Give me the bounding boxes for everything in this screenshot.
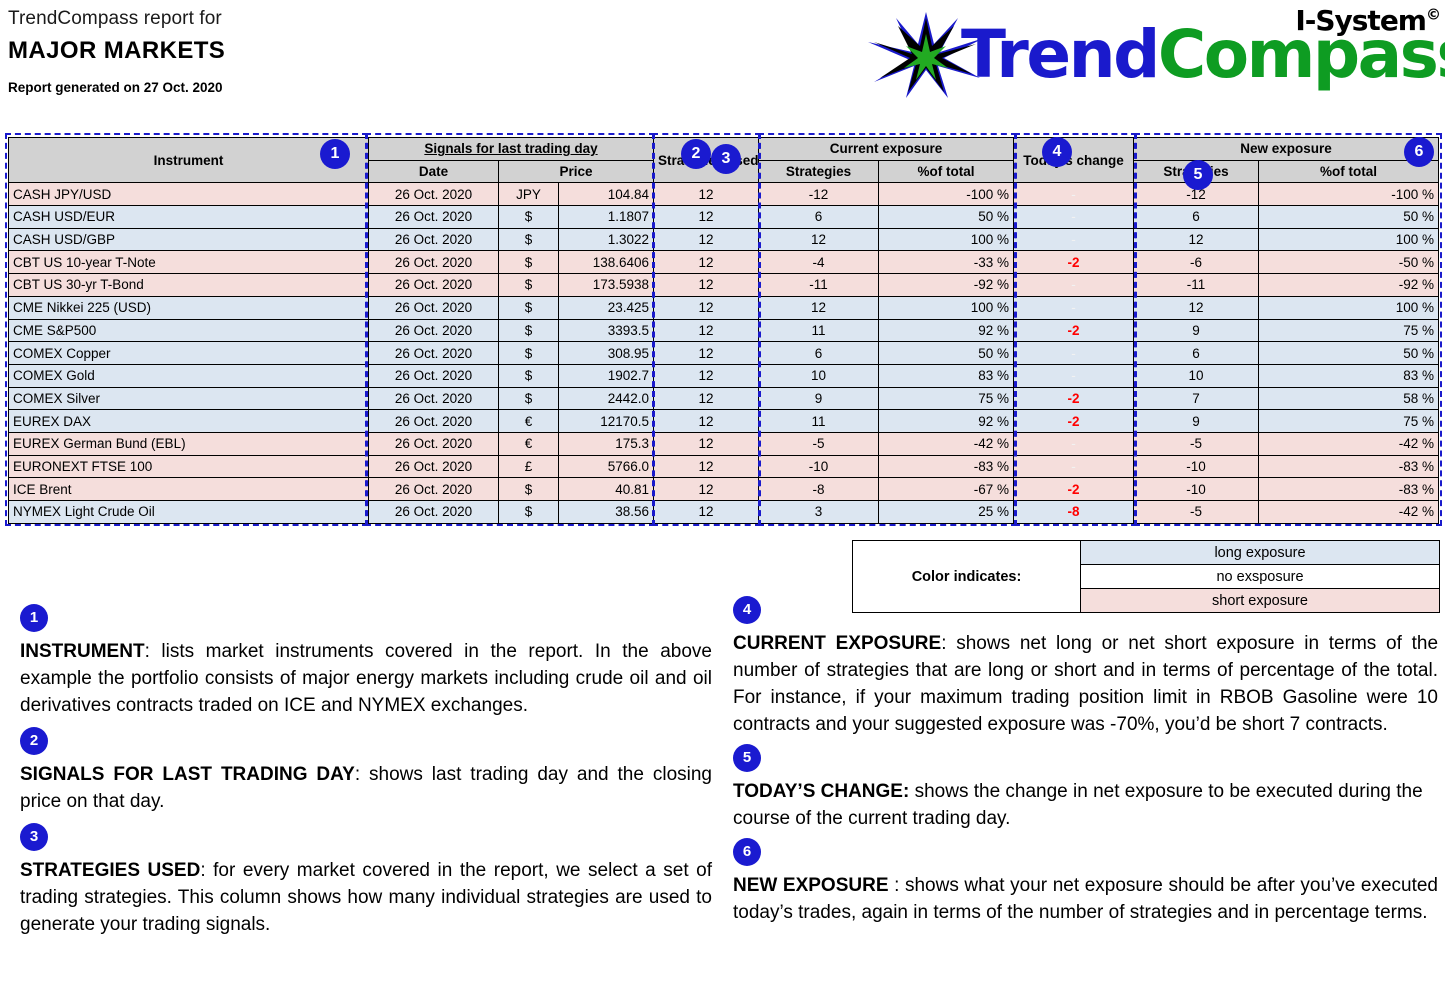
cell-current-strategies: -8 [759, 478, 879, 501]
table-row[interactable]: NYMEX Light Crude Oil26 Oct. 2020$38.561… [9, 501, 1439, 524]
note-5: 5 TODAY’S CHANGE: shows the change in ne… [733, 744, 1438, 832]
note-2: 2 SIGNALS FOR LAST TRADING DAY: shows la… [20, 727, 712, 815]
cell-strategies-used: 12 [654, 206, 759, 229]
cell-new-pct: -50 % [1259, 251, 1439, 274]
report-title: MAJOR MARKETS [8, 37, 225, 65]
cell-current-strategies: -5 [759, 432, 879, 455]
callout-badge-2: 2 [681, 139, 711, 169]
exposure-table: Instrument Signals for last trading day … [8, 137, 1439, 524]
callout-badge-1: 1 [320, 139, 350, 169]
notes-column-left: 1 INSTRUMENT: lists market instruments c… [20, 604, 712, 940]
cell-new-strategies: 12 [1134, 296, 1259, 319]
cell-current-strategies: 6 [759, 206, 879, 229]
cell-instrument: COMEX Copper [9, 342, 369, 365]
cell-new-strategies: 7 [1134, 387, 1259, 410]
cell-todays-change: -2 [1014, 387, 1134, 410]
note-5-title: TODAY’S CHANGE: [733, 781, 909, 802]
cell-price: 2442.0 [559, 387, 654, 410]
cell-current-pct: 92 % [879, 319, 1014, 342]
cell-current-strategies: -12 [759, 183, 879, 206]
cell-currency: $ [499, 501, 559, 524]
cell-instrument: COMEX Silver [9, 387, 369, 410]
cell-new-strategies: 6 [1134, 342, 1259, 365]
cell-date: 26 Oct. 2020 [369, 364, 499, 387]
cell-strategies-used: 12 [654, 183, 759, 206]
note-badge-1: 1 [20, 604, 48, 632]
cell-todays-change: - [1014, 342, 1134, 365]
cell-current-pct: 50 % [879, 206, 1014, 229]
cell-currency: £ [499, 455, 559, 478]
cell-todays-change: - [1014, 206, 1134, 229]
col-header-price: Price [499, 160, 654, 183]
legend-no-exposure: no exsposure [1081, 565, 1440, 589]
cell-new-strategies: -11 [1134, 274, 1259, 297]
cell-new-strategies: -10 [1134, 455, 1259, 478]
cell-date: 26 Oct. 2020 [369, 228, 499, 251]
note-badge-4: 4 [733, 596, 761, 624]
cell-current-strategies: 10 [759, 364, 879, 387]
table-row[interactable]: EUREX DAX26 Oct. 2020€12170.5121192 %-29… [9, 410, 1439, 433]
note-badge-5: 5 [733, 744, 761, 772]
cell-current-pct: 25 % [879, 501, 1014, 524]
cell-new-pct: 75 % [1259, 410, 1439, 433]
cell-current-pct: -92 % [879, 274, 1014, 297]
table-row[interactable]: EURONEXT FTSE 10026 Oct. 2020£5766.012-1… [9, 455, 1439, 478]
cell-currency: $ [499, 296, 559, 319]
cell-current-strategies: 3 [759, 501, 879, 524]
cell-instrument: CBT US 10-year T-Note [9, 251, 369, 274]
callout-badge-4: 4 [1042, 137, 1072, 167]
cell-price: 1.1807 [559, 206, 654, 229]
cell-price: 5766.0 [559, 455, 654, 478]
cell-new-strategies: 9 [1134, 410, 1259, 433]
cell-current-strategies: -11 [759, 274, 879, 297]
note-4-title: CURRENT EXPOSURE [733, 633, 941, 654]
cell-date: 26 Oct. 2020 [369, 183, 499, 206]
cell-todays-change: - [1014, 364, 1134, 387]
exposure-table-body: CASH JPY/USD26 Oct. 2020JPY104.8412-12-1… [9, 183, 1439, 523]
report-generated-date: Report generated on 27 Oct. 2020 [8, 80, 223, 95]
cell-new-pct: -83 % [1259, 455, 1439, 478]
cell-current-pct: 100 % [879, 296, 1014, 319]
cell-date: 26 Oct. 2020 [369, 387, 499, 410]
cell-current-pct: 83 % [879, 364, 1014, 387]
cell-new-strategies: -5 [1134, 432, 1259, 455]
cell-currency: $ [499, 228, 559, 251]
table-row[interactable]: COMEX Copper26 Oct. 2020$308.9512650 %-6… [9, 342, 1439, 365]
cell-date: 26 Oct. 2020 [369, 296, 499, 319]
cell-new-pct: 50 % [1259, 206, 1439, 229]
cell-price: 1.3022 [559, 228, 654, 251]
cell-instrument: NYMEX Light Crude Oil [9, 501, 369, 524]
cell-date: 26 Oct. 2020 [369, 251, 499, 274]
cell-new-pct: 50 % [1259, 342, 1439, 365]
cell-todays-change: -2 [1014, 251, 1134, 274]
cell-currency: $ [499, 342, 559, 365]
cell-currency: € [499, 410, 559, 433]
cell-currency: $ [499, 251, 559, 274]
cell-current-pct: -67 % [879, 478, 1014, 501]
table-row[interactable]: COMEX Gold26 Oct. 2020$1902.7121083 %-10… [9, 364, 1439, 387]
cell-date: 26 Oct. 2020 [369, 410, 499, 433]
cell-new-strategies: 6 [1134, 206, 1259, 229]
cell-strategies-used: 12 [654, 501, 759, 524]
table-row[interactable]: EUREX German Bund (EBL)26 Oct. 2020€175.… [9, 432, 1439, 455]
cell-current-pct: 100 % [879, 228, 1014, 251]
cell-new-pct: 100 % [1259, 296, 1439, 319]
cell-strategies-used: 12 [654, 228, 759, 251]
cell-current-strategies: 12 [759, 228, 879, 251]
note-6-title: NEW EXPOSURE [733, 875, 889, 896]
cell-todays-change: - [1014, 183, 1134, 206]
col-header-date: Date [369, 160, 499, 183]
report-page: TrendCompass report for MAJOR MARKETS Re… [0, 0, 1445, 988]
cell-date: 26 Oct. 2020 [369, 274, 499, 297]
cell-price: 104.84 [559, 183, 654, 206]
report-subtitle: TrendCompass report for [8, 8, 222, 30]
copyright-symbol: © [1426, 6, 1440, 24]
cell-price: 3393.5 [559, 319, 654, 342]
cell-instrument: CASH USD/EUR [9, 206, 369, 229]
cell-current-strategies: 11 [759, 319, 879, 342]
cell-new-strategies: -6 [1134, 251, 1259, 274]
note-1-title: INSTRUMENT [20, 641, 145, 662]
cell-date: 26 Oct. 2020 [369, 478, 499, 501]
cell-price: 23.425 [559, 296, 654, 319]
cell-new-strategies: -10 [1134, 478, 1259, 501]
col-header-instrument: Instrument [9, 138, 369, 183]
cell-date: 26 Oct. 2020 [369, 432, 499, 455]
cell-new-pct: -92 % [1259, 274, 1439, 297]
cell-currency: $ [499, 387, 559, 410]
note-badge-6: 6 [733, 838, 761, 866]
cell-price: 308.95 [559, 342, 654, 365]
cell-current-pct: 92 % [879, 410, 1014, 433]
cell-strategies-used: 12 [654, 274, 759, 297]
cell-current-pct: 75 % [879, 387, 1014, 410]
cell-todays-change: -2 [1014, 410, 1134, 433]
cell-strategies-used: 12 [654, 319, 759, 342]
cell-new-pct: 58 % [1259, 387, 1439, 410]
cell-new-pct: 75 % [1259, 319, 1439, 342]
cell-currency: $ [499, 364, 559, 387]
cell-instrument: CBT US 30-yr T-Bond [9, 274, 369, 297]
exposure-table-container: Instrument Signals for last trading day … [8, 137, 1438, 524]
notes-column-right: 4 CURRENT EXPOSURE: shows net long or ne… [733, 596, 1438, 928]
cell-instrument: EURONEXT FTSE 100 [9, 455, 369, 478]
col-header-cur-strategies: Strategies [759, 160, 879, 183]
cell-currency: € [499, 432, 559, 455]
cell-current-strategies: -4 [759, 251, 879, 274]
cell-instrument: EUREX German Bund (EBL) [9, 432, 369, 455]
table-row[interactable]: CBT US 10-year T-Note26 Oct. 2020$138.64… [9, 251, 1439, 274]
cell-todays-change: - [1014, 455, 1134, 478]
cell-todays-change: - [1014, 296, 1134, 319]
cell-current-strategies: 11 [759, 410, 879, 433]
cell-current-strategies: 12 [759, 296, 879, 319]
cell-new-strategies: 12 [1134, 228, 1259, 251]
callout-badge-5: 5 [1183, 160, 1213, 190]
col-group-signals: Signals for last trading day [369, 138, 654, 161]
table-row[interactable]: CBT US 30-yr T-Bond26 Oct. 2020$173.5938… [9, 274, 1439, 297]
cell-current-pct: -33 % [879, 251, 1014, 274]
cell-date: 26 Oct. 2020 [369, 319, 499, 342]
col-group-new-exposure: New exposure [1134, 138, 1439, 161]
col-header-todays-change: Today's change [1014, 138, 1134, 183]
cell-instrument: CASH USD/GBP [9, 228, 369, 251]
cell-instrument: COMEX Gold [9, 364, 369, 387]
cell-new-strategies: -5 [1134, 501, 1259, 524]
cell-strategies-used: 12 [654, 410, 759, 433]
table-row[interactable]: CME S&P50026 Oct. 2020$3393.5121192 %-29… [9, 319, 1439, 342]
cell-instrument: EUREX DAX [9, 410, 369, 433]
cell-instrument: ICE Brent [9, 478, 369, 501]
note-3-title: STRATEGIES USED [20, 860, 200, 881]
cell-new-pct: -83 % [1259, 478, 1439, 501]
cell-strategies-used: 12 [654, 455, 759, 478]
cell-strategies-used: 12 [654, 342, 759, 365]
cell-new-pct: 100 % [1259, 228, 1439, 251]
cell-current-strategies: -10 [759, 455, 879, 478]
cell-price: 12170.5 [559, 410, 654, 433]
cell-instrument: CASH JPY/USD [9, 183, 369, 206]
cell-new-pct: 83 % [1259, 364, 1439, 387]
cell-strategies-used: 12 [654, 432, 759, 455]
cell-new-strategies: 10 [1134, 364, 1259, 387]
cell-date: 26 Oct. 2020 [369, 455, 499, 478]
legend-long-exposure: long exposure [1081, 541, 1440, 565]
cell-todays-change: -8 [1014, 501, 1134, 524]
cell-instrument: CME S&P500 [9, 319, 369, 342]
cell-todays-change: - [1014, 432, 1134, 455]
cell-price: 138.6406 [559, 251, 654, 274]
cell-currency: $ [499, 319, 559, 342]
cell-strategies-used: 12 [654, 364, 759, 387]
cell-todays-change: - [1014, 274, 1134, 297]
cell-instrument: CME Nikkei 225 (USD) [9, 296, 369, 319]
table-row[interactable]: CASH JPY/USD26 Oct. 2020JPY104.8412-12-1… [9, 183, 1439, 206]
note-badge-3: 3 [20, 823, 48, 851]
cell-strategies-used: 12 [654, 478, 759, 501]
cell-price: 1902.7 [559, 364, 654, 387]
cell-new-pct: -42 % [1259, 432, 1439, 455]
cell-current-pct: -83 % [879, 455, 1014, 478]
cell-date: 26 Oct. 2020 [369, 206, 499, 229]
col-group-current-exposure: Current exposure [759, 138, 1014, 161]
cell-date: 26 Oct. 2020 [369, 342, 499, 365]
cell-new-pct: -42 % [1259, 501, 1439, 524]
cell-current-strategies: 6 [759, 342, 879, 365]
cell-todays-change: -2 [1014, 319, 1134, 342]
cell-currency: JPY [499, 183, 559, 206]
note-badge-2: 2 [20, 727, 48, 755]
cell-currency: $ [499, 274, 559, 297]
cell-current-pct: 50 % [879, 342, 1014, 365]
col-header-cur-pct: %of total [879, 160, 1014, 183]
cell-price: 40.81 [559, 478, 654, 501]
cell-current-pct: -42 % [879, 432, 1014, 455]
table-row[interactable]: COMEX Silver26 Oct. 2020$2442.012975 %-2… [9, 387, 1439, 410]
callout-badge-6: 6 [1404, 137, 1434, 167]
cell-todays-change: - [1014, 228, 1134, 251]
cell-new-strategies: 9 [1134, 319, 1259, 342]
cell-strategies-used: 12 [654, 387, 759, 410]
cell-price: 173.5938 [559, 274, 654, 297]
table-row[interactable]: CASH USD/EUR26 Oct. 2020$1.180712650 %-6… [9, 206, 1439, 229]
table-row[interactable]: ICE Brent26 Oct. 2020$40.8112-8-67 %-2-1… [9, 478, 1439, 501]
logo-isystem-text: I-System© [1295, 4, 1440, 37]
note-1: 1 INSTRUMENT: lists market instruments c… [20, 604, 712, 719]
cell-price: 175.3 [559, 432, 654, 455]
cell-current-pct: -100 % [879, 183, 1014, 206]
cell-currency: $ [499, 478, 559, 501]
note-6: 6 NEW EXPOSURE : shows what your net exp… [733, 838, 1438, 926]
cell-currency: $ [499, 206, 559, 229]
cell-strategies-used: 12 [654, 251, 759, 274]
table-row[interactable]: CME Nikkei 225 (USD)26 Oct. 2020$23.4251… [9, 296, 1439, 319]
note-4: 4 CURRENT EXPOSURE: shows net long or ne… [733, 596, 1438, 738]
trendcompass-logo: TrendCompass I-System© [866, 2, 1444, 98]
note-2-title: SIGNALS FOR LAST TRADING DAY [20, 764, 355, 785]
logo-trend-text: Trend [961, 16, 1158, 93]
note-3: 3 STRATEGIES USED: for every market cove… [20, 823, 712, 938]
table-row[interactable]: CASH USD/GBP26 Oct. 2020$1.30221212100 %… [9, 228, 1439, 251]
callout-badge-3: 3 [711, 144, 741, 174]
cell-current-strategies: 9 [759, 387, 879, 410]
cell-todays-change: -2 [1014, 478, 1134, 501]
cell-strategies-used: 12 [654, 296, 759, 319]
cell-price: 38.56 [559, 501, 654, 524]
cell-date: 26 Oct. 2020 [369, 501, 499, 524]
cell-new-pct: -100 % [1259, 183, 1439, 206]
